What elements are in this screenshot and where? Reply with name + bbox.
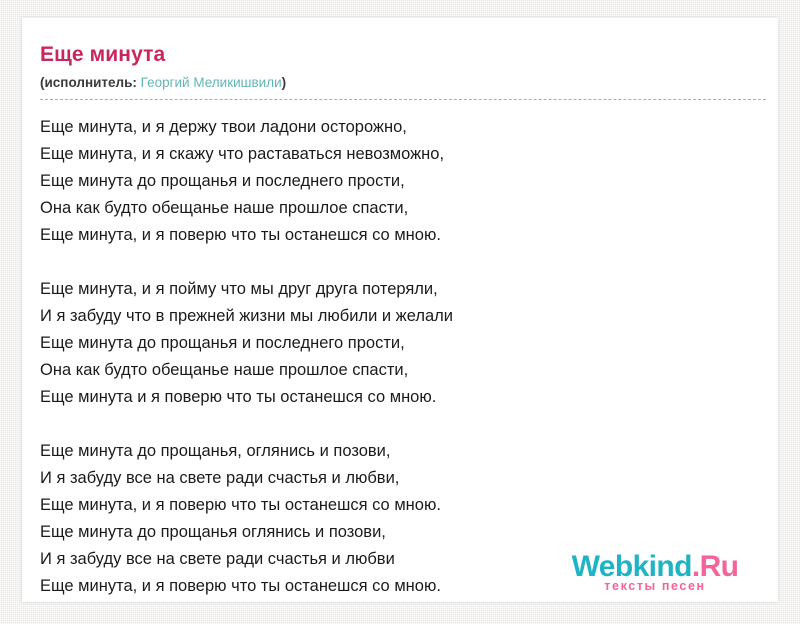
lyric-line: И я забуду все на свете ради счастья и л… — [40, 465, 760, 492]
page-background: Еще минута (исполнитель: Георгий Меликиш… — [0, 0, 800, 624]
performer-suffix: ) — [282, 75, 287, 90]
lyric-line: Она как будто обещанье наше прошлое спас… — [40, 195, 760, 222]
performer-byline: (исполнитель: Георгий Меликишвили) — [40, 74, 766, 100]
lyric-line: Еще минута, и я поверю что ты останешся … — [40, 492, 760, 519]
lyric-line: Еще минута до прощанья и последнего прос… — [40, 330, 760, 357]
page-title: Еще минута — [40, 42, 760, 68]
lyric-line: И я забуду что в прежней жизни мы любили… — [40, 303, 760, 330]
lyric-line: Еще минута, и я держу твои ладони осторо… — [40, 114, 760, 141]
lyrics-stanza: Еще минута, и я пойму что мы друг друга … — [40, 276, 760, 411]
lyric-line: Еще минута до прощанья и последнего прос… — [40, 168, 760, 195]
lyric-line: Еще минута до прощанья, оглянись и позов… — [40, 438, 760, 465]
lyric-line: Еще минута, и я пойму что мы друг друга … — [40, 276, 760, 303]
lyric-line: Еще минута до прощанья оглянись и позови… — [40, 519, 760, 546]
lyrics-text: Еще минута, и я держу твои ладони осторо… — [22, 100, 778, 600]
performer-label: (исполнитель: — [40, 75, 137, 90]
lyrics-content-sheet: Еще минута (исполнитель: Георгий Меликиш… — [22, 18, 778, 602]
lyric-line: Еще минута и я поверю что ты останешся с… — [40, 384, 760, 411]
lyric-line: Она как будто обещанье наше прошлое спас… — [40, 357, 760, 384]
lyric-line: Еще минута, и я поверю что ты останешся … — [40, 222, 760, 249]
song-header: Еще минута (исполнитель: Георгий Меликиш… — [22, 18, 778, 100]
lyrics-stanza: Еще минута, и я держу твои ладони осторо… — [40, 114, 760, 249]
lyric-line: Еще минута, и я скажу что раставаться не… — [40, 141, 760, 168]
site-logo[interactable]: Webkind.Ru тексты песен — [550, 551, 760, 594]
performer-link[interactable]: Георгий Меликишвили — [141, 75, 282, 90]
